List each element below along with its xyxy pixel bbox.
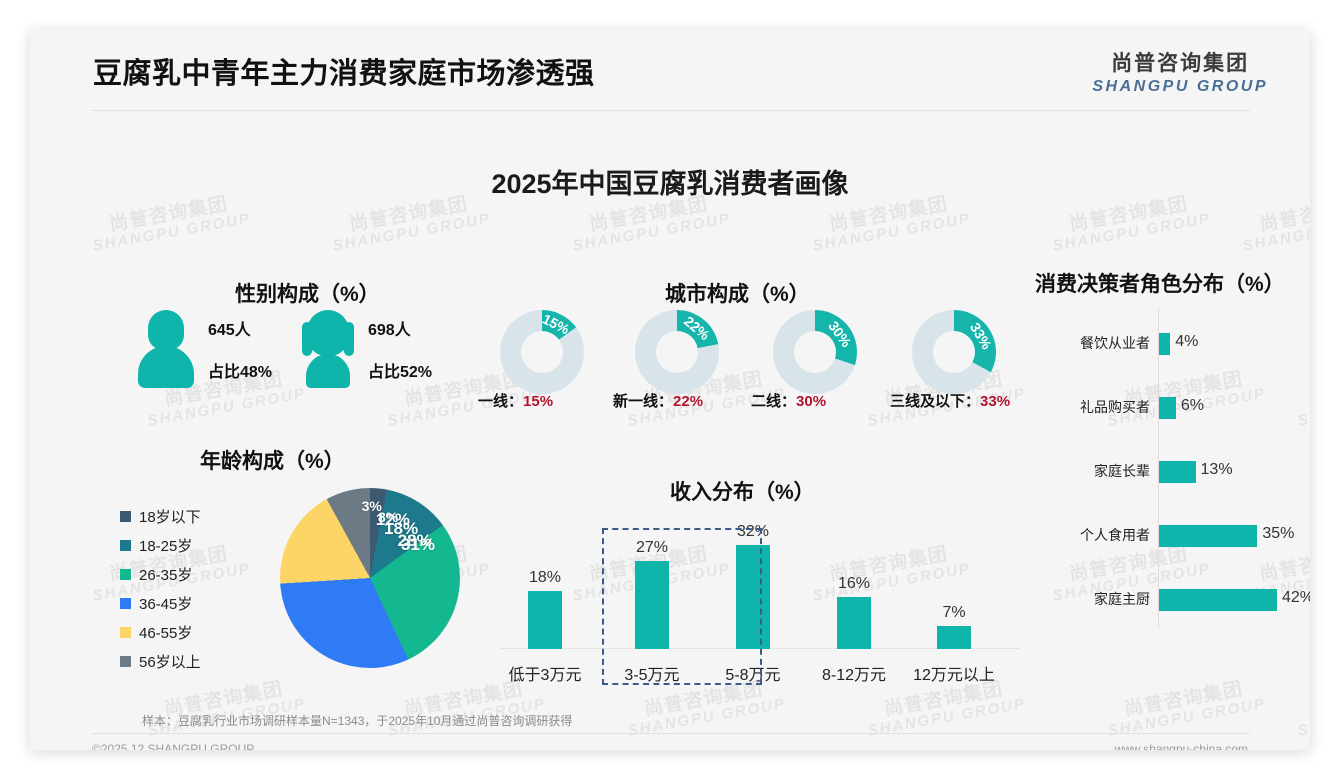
website-url[interactable]: www.shangpu-china.com [1115, 742, 1248, 750]
role-row: 礼品购买者6% [1030, 394, 1300, 422]
donut-hole [933, 331, 975, 373]
donut-caption-label: 一线： [478, 393, 523, 410]
role-category-label: 礼品购买者 [1080, 397, 1150, 417]
income-bar-category: 低于3万元 [488, 661, 602, 685]
legend-item-4[interactable]: 36-45岁 [120, 593, 192, 614]
age-pie-graphic [280, 488, 460, 668]
donut-caption-value: 30% [796, 393, 826, 410]
donut-二线: 30% [773, 310, 857, 394]
legend-swatch [120, 627, 131, 638]
role-bar-value: 6% [1181, 397, 1204, 415]
copyright-text: ©2025.12 SHANGPU GROUP [92, 742, 254, 750]
city-composition: 15%一线：15%22%新一线：22%30%二线：30%33%三线及以下：33% [480, 298, 1030, 408]
legend-label: 26-35岁 [139, 564, 192, 585]
role-row: 家庭长辈13% [1030, 458, 1300, 486]
female-share: 占比52% [368, 358, 432, 382]
income-bar-value: 7% [919, 604, 989, 622]
slide-canvas: 尚普咨询集团SHANGPU GROUP尚普咨询集团SHANGPU GROUP尚普… [30, 30, 1310, 750]
donut-caption-value: 22% [673, 393, 703, 410]
legend-item-3[interactable]: 26-35岁 [120, 564, 192, 585]
legend-item-6[interactable]: 56岁以上 [120, 651, 201, 672]
gender-composition: 645人 占比48% 698人 占比52% [120, 292, 450, 402]
role-bar [1159, 461, 1196, 483]
slide-header: 豆腐乳中青年主力消费家庭市场渗透强 尚普咨询集团 SHANGPU GROUP [30, 30, 1310, 110]
role-row: 餐饮从业者4% [1030, 330, 1300, 358]
income-bar-chart: 18%低于3万元27%3-5万元32%5-8万元16%8-12万元7%12万元以… [490, 508, 1030, 693]
age-pie-chart: 3%12%28%31%18%8% 18岁以下18-25岁26-35岁36-45岁… [120, 480, 460, 690]
female-count: 698人 [368, 316, 411, 340]
donut-hole [794, 331, 836, 373]
donut-caption-新一线: 新一线：22% [613, 390, 703, 411]
income-section-title: 收入分布（%） [670, 476, 815, 506]
income-highlight-box [602, 528, 762, 685]
legend-label: 18岁以下 [139, 506, 201, 527]
donut-caption-一线: 一线：15% [478, 390, 553, 411]
income-bar [837, 597, 871, 649]
role-category-label: 个人食用者 [1080, 525, 1150, 545]
logo-chinese-name: 尚普咨询集团 [1092, 47, 1268, 77]
role-bar [1159, 525, 1257, 547]
legend-label: 46-55岁 [139, 622, 192, 643]
female-person-icon [300, 310, 356, 388]
income-bar [937, 626, 971, 649]
legend-item-1[interactable]: 18岁以下 [120, 506, 201, 527]
role-bar-value: 35% [1262, 525, 1294, 543]
legend-label: 18-25岁 [139, 535, 192, 556]
donut-caption-三线及以下: 三线及以下：33% [890, 390, 1010, 411]
legend-label: 36-45岁 [139, 593, 192, 614]
role-bar [1159, 333, 1170, 355]
income-bar-category: 12万元以上 [897, 661, 1011, 685]
donut-一线: 15% [500, 310, 584, 394]
legend-label: 56岁以上 [139, 651, 201, 672]
role-bar-value: 4% [1175, 333, 1198, 351]
role-bar [1159, 397, 1176, 419]
role-category-label: 餐饮从业者 [1080, 333, 1150, 353]
page-title: 豆腐乳中青年主力消费家庭市场渗透强 [93, 50, 595, 92]
legend-swatch [120, 540, 131, 551]
income-bar-value: 16% [819, 575, 889, 593]
donut-caption-label: 二线： [751, 393, 796, 410]
donut-caption-value: 15% [523, 393, 553, 410]
income-bar-value: 18% [510, 569, 580, 587]
role-section-title: 消费决策者角色分布（%） [1035, 268, 1285, 298]
legend-swatch [120, 569, 131, 580]
pie-slice-label: 8% [378, 509, 398, 525]
role-bar [1159, 589, 1277, 611]
donut-hole [521, 331, 563, 373]
donut-三线及以下: 33% [912, 310, 996, 394]
income-bar-category: 8-12万元 [797, 661, 911, 685]
watermark: 尚普咨询集团SHANGPU GROUP [1103, 676, 1267, 739]
donut-caption-label: 三线及以下： [890, 393, 980, 410]
role-category-label: 家庭长辈 [1094, 461, 1150, 481]
role-category-label: 家庭主厨 [1094, 589, 1150, 609]
donut-新一线: 22% [635, 310, 719, 394]
sample-note: 样本：豆腐乳行业市场调研样本量N=1343，于2025年10月通过尚普咨询调研获… [142, 712, 572, 729]
role-row: 家庭主厨42% [1030, 586, 1300, 614]
role-bar-value: 42% [1282, 589, 1310, 607]
income-bar [528, 591, 562, 650]
legend-item-2[interactable]: 18-25岁 [120, 535, 192, 556]
legend-swatch [120, 511, 131, 522]
legend-swatch [120, 598, 131, 609]
donut-caption-value: 33% [980, 393, 1010, 410]
role-bar-chart: 餐饮从业者4%礼品购买者6%家庭长辈13%个人食用者35%家庭主厨42% [1030, 308, 1300, 638]
legend-swatch [120, 656, 131, 667]
header-divider [92, 110, 1250, 111]
donut-caption-label: 新一线： [613, 393, 673, 410]
legend-item-5[interactable]: 46-55岁 [120, 622, 192, 643]
role-row: 个人食用者35% [1030, 522, 1300, 550]
chart-subtitle: 2025年中国豆腐乳消费者画像 [30, 162, 1310, 201]
age-section-title: 年龄构成（%） [200, 445, 345, 475]
male-person-icon [138, 310, 194, 388]
watermark: 尚普咨询集团SHANGPU GROUP [1293, 676, 1310, 739]
role-bar-value: 13% [1201, 461, 1233, 479]
donut-caption-二线: 二线：30% [751, 390, 826, 411]
footer-divider [92, 733, 1250, 734]
male-share: 占比48% [208, 358, 272, 382]
donut-hole [656, 331, 698, 373]
company-logo: 尚普咨询集团 SHANGPU GROUP [1092, 47, 1268, 96]
logo-english-name: SHANGPU GROUP [1092, 78, 1268, 96]
male-count: 645人 [208, 316, 251, 340]
